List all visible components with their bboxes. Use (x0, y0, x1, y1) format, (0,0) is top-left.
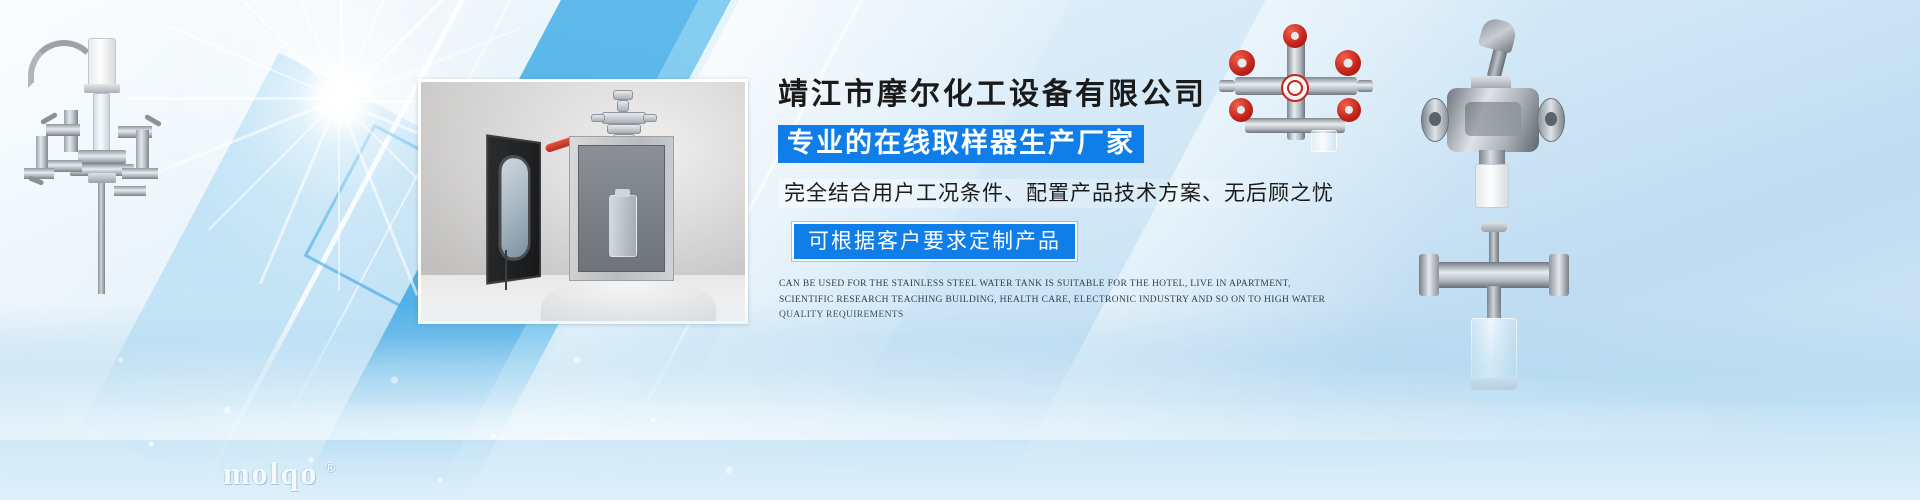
registered-mark: ® (324, 460, 337, 476)
wave-crest-highlight (0, 320, 1920, 440)
water-droplets (60, 300, 820, 500)
english-description: Can be used for the stainless steel wate… (779, 277, 1339, 324)
sampler-head (599, 90, 651, 142)
brand-watermark: molqo® (223, 455, 338, 492)
value-proposition-text: 完全结合用户工况条件、配置产品技术方案、无后顾之忧 (778, 179, 1340, 208)
headline-highlight: 专业的在线取样器生产厂家 (778, 125, 1144, 163)
promo-banner: 靖江市摩尔化工设备有限公司 专业的在线取样器生产厂家 完全结合用户工况条件、配置… (0, 0, 1920, 500)
right-product-3-image (1405, 228, 1585, 408)
custom-order-cta[interactable]: 可根据客户要求定制产品 (792, 222, 1077, 261)
right-product-2-image (1395, 20, 1575, 220)
right-product-1-image (1215, 22, 1375, 152)
center-product-image (418, 79, 748, 324)
left-product-image (10, 18, 190, 298)
watermark-text: molqo (223, 455, 318, 491)
